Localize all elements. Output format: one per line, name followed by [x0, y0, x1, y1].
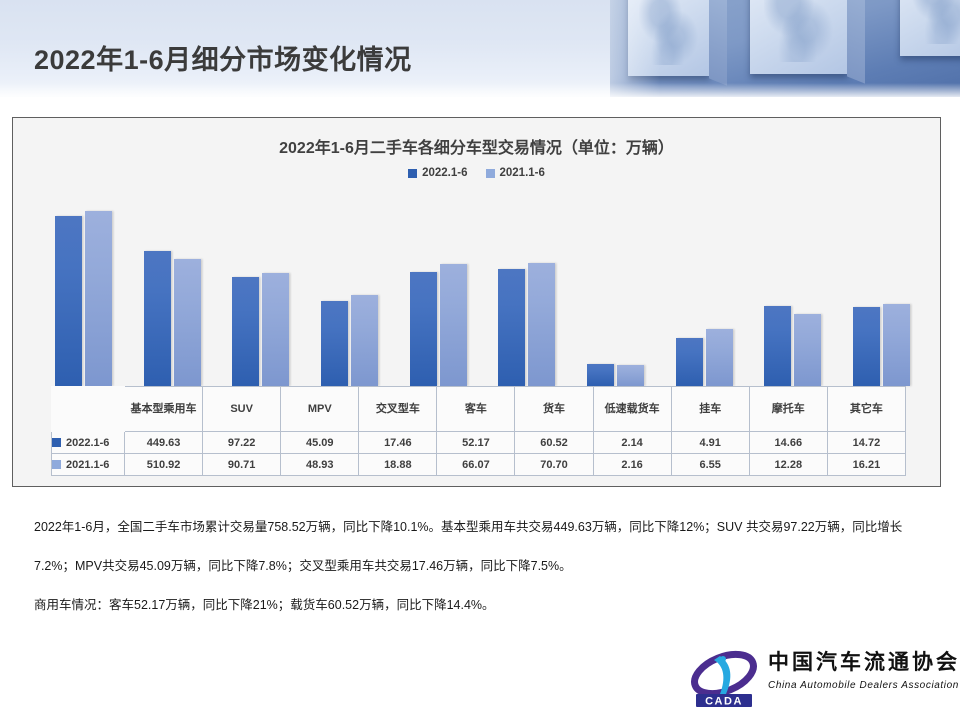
table-series-swatch: [52, 460, 61, 469]
bar-group: [749, 196, 838, 386]
table-cell: 90.71: [203, 454, 281, 476]
bar-group: [394, 196, 483, 386]
table-column-header: 其它车: [827, 387, 905, 432]
chart-legend: 2022.1-6 2021.1-6: [13, 167, 940, 179]
table-cell: 2.14: [593, 432, 671, 454]
bar[interactable]: [498, 269, 525, 386]
legend-swatch-2021: [486, 169, 495, 178]
chart-data-table: 基本型乘用车SUVMPV交叉型车客车货车低速载货车挂车摩托车其它车 2022.1…: [51, 386, 906, 476]
bar[interactable]: [232, 277, 259, 386]
table-column-header: 摩托车: [749, 387, 827, 432]
table-cell: 449.63: [125, 432, 203, 454]
svg-text:CADA: CADA: [705, 696, 743, 708]
table-body: 2022.1-6449.6397.2245.0917.4652.1760.522…: [52, 432, 906, 476]
table-cell: 45.09: [281, 432, 359, 454]
table-cell: 70.70: [515, 454, 593, 476]
legend-label-2022: 2022.1-6: [422, 167, 467, 179]
bar[interactable]: [410, 272, 437, 386]
bar-group: [660, 196, 749, 386]
page-title: 2022年1-6月细分市场变化情况: [34, 38, 412, 77]
decorative-cube: [750, 0, 848, 74]
table-cell: 60.52: [515, 432, 593, 454]
table-column-header: 交叉型车: [359, 387, 437, 432]
table-column-header: MPV: [281, 387, 359, 432]
legend-item-2022[interactable]: 2022.1-6: [408, 167, 467, 179]
bar-group: [837, 196, 926, 386]
bar-group: [128, 196, 217, 386]
table-cell: 66.07: [437, 454, 515, 476]
table-cell: 4.91: [671, 432, 749, 454]
bar[interactable]: [351, 295, 378, 386]
bar[interactable]: [85, 211, 112, 386]
table-column-header: 低速载货车: [593, 387, 671, 432]
bar[interactable]: [706, 329, 733, 386]
bar[interactable]: [55, 216, 82, 386]
bar[interactable]: [440, 264, 467, 386]
legend-label-2021: 2021.1-6: [500, 167, 545, 179]
table-cell: 12.28: [749, 454, 827, 476]
table-row: 2021.1-6510.9290.7148.9318.8866.0770.702…: [52, 454, 906, 476]
bar[interactable]: [853, 307, 880, 386]
chart-container: 2022年1-6月二手车各细分车型交易情况（单位：万辆） 2022.1-6 20…: [12, 117, 941, 487]
table-row: 2022.1-6449.6397.2245.0917.4652.1760.522…: [52, 432, 906, 454]
bar[interactable]: [764, 306, 791, 386]
table-series-label: 2021.1-6: [66, 459, 109, 471]
chart-title: 2022年1-6月二手车各细分车型交易情况（单位：万辆）: [13, 134, 940, 158]
bar-group: [483, 196, 572, 386]
legend-item-2021[interactable]: 2021.1-6: [486, 167, 545, 179]
table-series-swatch: [52, 438, 61, 447]
bar[interactable]: [794, 314, 821, 386]
bar[interactable]: [174, 259, 201, 386]
table-cell: 18.88: [359, 454, 437, 476]
decorative-cube: [628, 0, 710, 76]
cada-name-cn: 中国汽车流通协会: [768, 648, 948, 678]
bar[interactable]: [617, 365, 644, 386]
bar-group: [571, 196, 660, 386]
table-column-header: 客车: [437, 387, 515, 432]
table-header-row: 基本型乘用车SUVMPV交叉型车客车货车低速载货车挂车摩托车其它车: [52, 387, 906, 432]
bar-group: [216, 196, 305, 386]
cada-logo-text: 中国汽车流通协会 China Automobile Dealers Associ…: [768, 648, 948, 694]
table-cell: 52.17: [437, 432, 515, 454]
bar[interactable]: [883, 304, 910, 386]
chart-plot-area: [39, 196, 926, 386]
slide-banner: 2022年1-6月细分市场变化情况: [0, 0, 960, 97]
bar[interactable]: [528, 263, 555, 386]
bar[interactable]: [321, 301, 348, 386]
bar-group: [305, 196, 394, 386]
bar[interactable]: [262, 273, 289, 386]
cada-name-en: China Automobile Dealers Association: [768, 678, 948, 694]
table-cell: 48.93: [281, 454, 359, 476]
bar-group: [39, 196, 128, 386]
legend-swatch-2022: [408, 169, 417, 178]
table-column-header: 基本型乘用车: [125, 387, 203, 432]
table-cell: 16.21: [827, 454, 905, 476]
table-cell: 2.16: [593, 454, 671, 476]
summary-paragraph-2: 商用车情况：客车52.17万辆，同比下降21%；载货车60.52万辆，同比下降1…: [34, 586, 926, 625]
bar[interactable]: [144, 251, 171, 386]
table-series-label: 2022.1-6: [66, 437, 109, 449]
table-cell: 510.92: [125, 454, 203, 476]
table-column-header: SUV: [203, 387, 281, 432]
table-corner-cell: [52, 387, 125, 432]
table-cell: 6.55: [671, 454, 749, 476]
summary-text: 2022年1-6月，全国二手车市场累计交易量758.52万辆，同比下降10.1%…: [34, 508, 926, 625]
bar[interactable]: [676, 338, 703, 386]
table-cell: 14.66: [749, 432, 827, 454]
table-column-header: 货车: [515, 387, 593, 432]
cada-logo-mark-icon: CADA: [690, 650, 764, 708]
banner-bottom-glow: [0, 83, 960, 97]
table-cell: 97.22: [203, 432, 281, 454]
table-row-header: 2021.1-6: [52, 454, 125, 476]
bar[interactable]: [587, 364, 614, 386]
decorative-cube: [900, 0, 960, 56]
table-cell: 14.72: [827, 432, 905, 454]
table-cell: 17.46: [359, 432, 437, 454]
table-column-header: 挂车: [671, 387, 749, 432]
cada-logo: CADA 中国汽车流通协会 China Automobile Dealers A…: [690, 648, 948, 710]
summary-paragraph-1: 2022年1-6月，全国二手车市场累计交易量758.52万辆，同比下降10.1%…: [34, 508, 926, 586]
table-row-header: 2022.1-6: [52, 432, 125, 454]
